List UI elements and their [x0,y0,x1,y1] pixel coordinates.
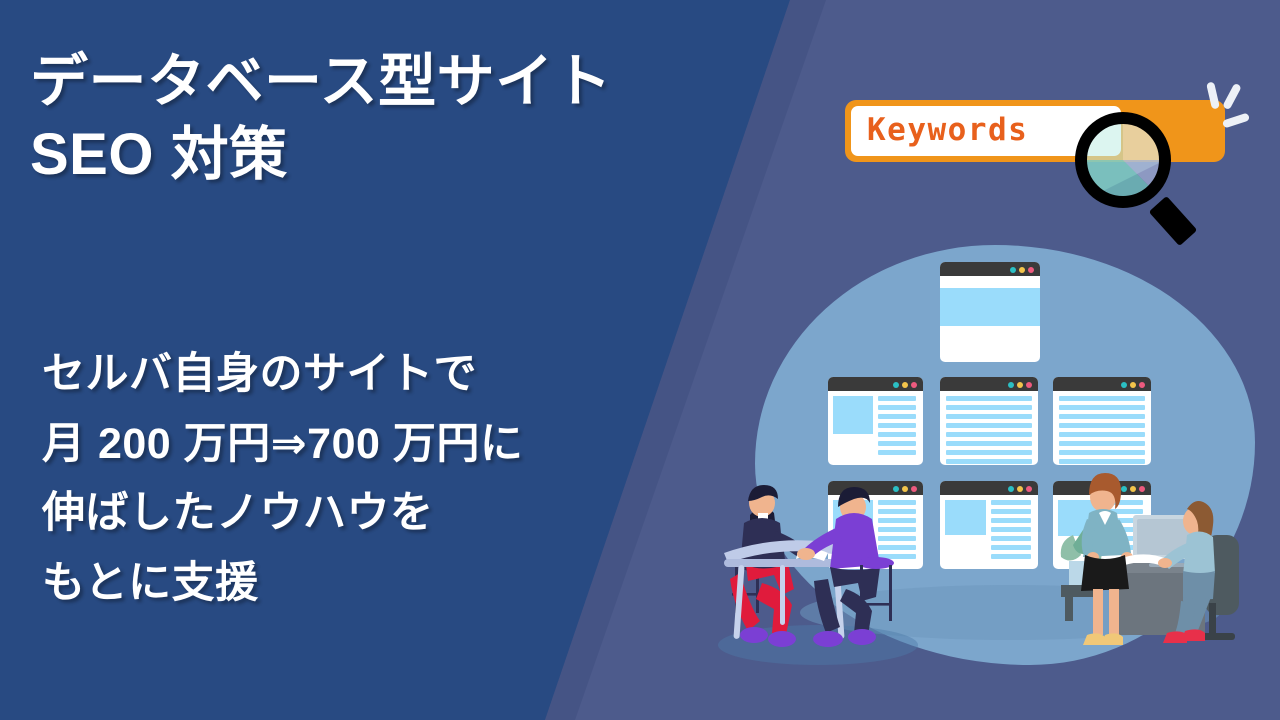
browser-window-mid-right [1053,377,1151,465]
window-content [940,276,1040,362]
hero-banner-block [940,288,1040,326]
text-line-group [1059,396,1145,464]
window-dot-yellow-icon [1130,382,1136,388]
window-dot-pink-icon [911,382,917,388]
magnifying-glass-icon[interactable] [1068,105,1213,250]
slide-canvas: データベース型サイト SEO 対策 セルバ自身のサイトで 月 200 万円⇒70… [0,0,1280,720]
left-people-scene [710,455,930,670]
sparkle-line-icon [1222,113,1250,129]
text-line-group [991,500,1031,559]
window-title-bar [828,377,923,391]
window-title-bar [940,262,1040,276]
text-line [946,414,1032,419]
browser-window-bottom-center [940,481,1038,569]
text-line [1059,396,1145,401]
search-input-text: Keywords [867,112,1028,148]
text-line [991,545,1031,550]
window-dot-teal-icon [1008,382,1014,388]
text-line [946,450,1032,455]
text-line [946,459,1032,464]
text-line [991,509,1031,514]
browser-window-mid-left [828,377,923,465]
browser-window-hero [940,262,1040,362]
window-dot-teal-icon [1008,486,1014,492]
text-line [946,441,1032,446]
window-content [1053,391,1151,465]
illustration: Keywords [0,0,1280,720]
window-dot-yellow-icon [1017,486,1023,492]
window-title-bar [940,377,1038,391]
right-office-scene [1055,465,1265,665]
window-dot-pink-icon [1026,382,1032,388]
text-line [878,396,916,401]
window-dot-teal-icon [893,382,899,388]
text-line [878,405,916,410]
text-line [878,441,916,446]
window-dot-pink-icon [1028,267,1034,273]
text-line [1059,441,1145,446]
window-content [828,391,923,465]
window-dot-yellow-icon [1017,382,1023,388]
text-line [1059,459,1145,464]
text-line-group [878,396,916,455]
window-dot-teal-icon [1010,267,1016,273]
window-title-bar [940,481,1038,495]
window-title-bar [1053,377,1151,391]
text-line [991,536,1031,541]
thumbnail-block [833,396,873,434]
text-line [878,423,916,428]
text-line [878,414,916,419]
window-dot-pink-icon [1139,382,1145,388]
window-dot-yellow-icon [1019,267,1025,273]
window-dot-teal-icon [1121,382,1127,388]
text-line [1059,405,1145,410]
text-line [946,396,1032,401]
window-content [940,495,1038,569]
thumbnail-block [945,500,986,535]
text-line [1059,450,1145,455]
text-line [946,423,1032,428]
text-line [991,518,1031,523]
sparkle-line-icon [1222,83,1242,111]
text-line-group [946,396,1032,464]
text-line [991,527,1031,532]
text-line [1059,414,1145,419]
text-line [878,432,916,437]
window-dot-pink-icon [1026,486,1032,492]
browser-window-mid-center [940,377,1038,465]
text-line [946,405,1032,410]
window-content [940,391,1038,465]
text-line [946,432,1032,437]
window-dot-yellow-icon [902,382,908,388]
text-line [1059,423,1145,428]
text-line [991,500,1031,505]
text-line [1059,432,1145,437]
text-line [991,554,1031,559]
